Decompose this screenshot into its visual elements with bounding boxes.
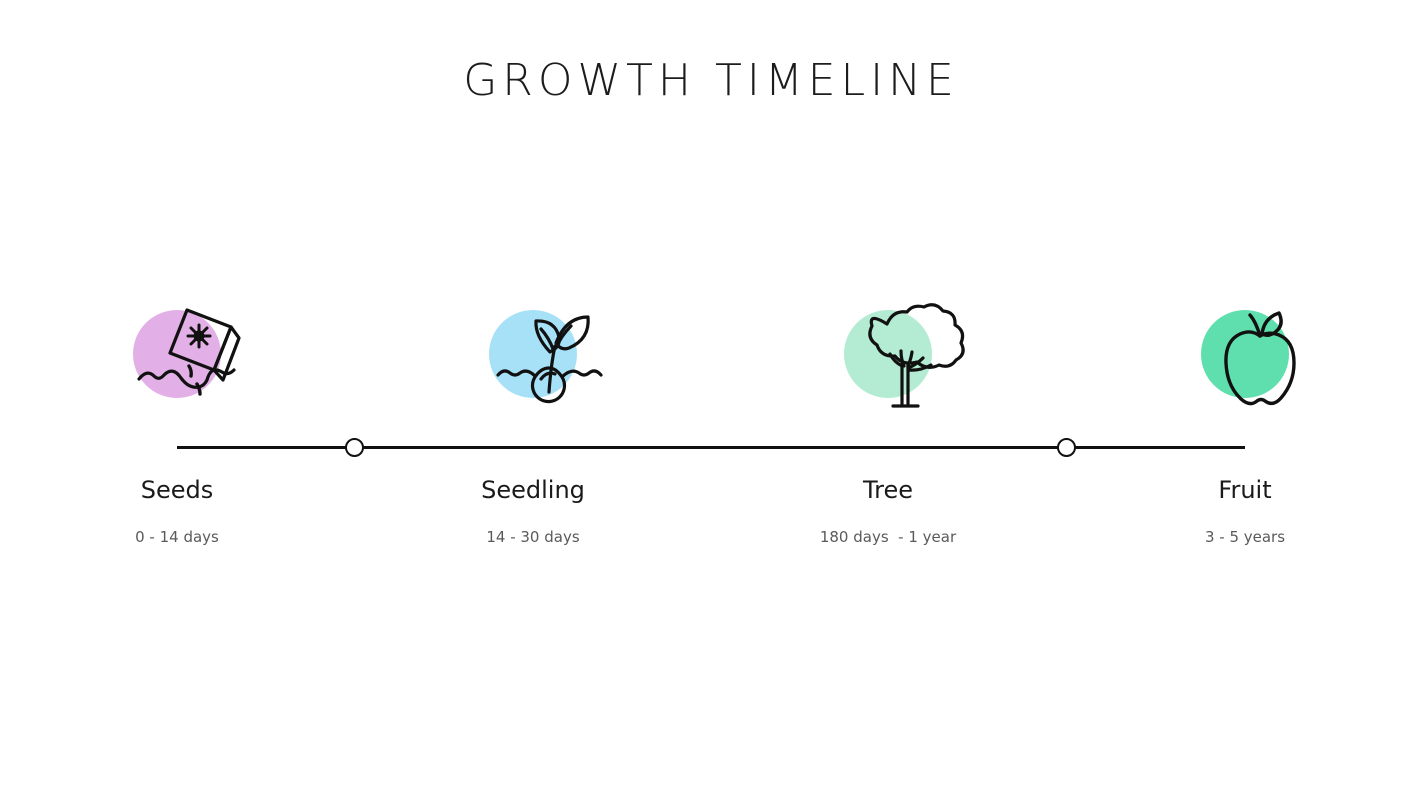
timeline-marker-seedling[interactable] <box>1057 438 1076 457</box>
stage-duration-seeds: 0 - 14 days <box>17 528 337 546</box>
stage-label-seedling: Seedling <box>373 476 693 504</box>
slide-canvas: GROWTH TIMELINE Seeds 0 - 14 da <box>0 0 1422 800</box>
stage-duration-fruit: 3 - 5 years <box>1085 528 1405 546</box>
timeline-axis <box>177 446 1245 449</box>
stage-label-seeds: Seeds <box>17 476 337 504</box>
page-title: GROWTH TIMELINE <box>0 55 1422 106</box>
stage-blob-fruit <box>1201 310 1289 398</box>
stage-blob-tree <box>844 310 932 398</box>
stage-label-fruit: Fruit <box>1085 476 1405 504</box>
stage-label-tree: Tree <box>728 476 1048 504</box>
stage-blob-seedling <box>489 310 577 398</box>
stage-blob-seeds <box>133 310 221 398</box>
timeline-marker-seeds[interactable] <box>345 438 364 457</box>
stage-duration-seedling: 14 - 30 days <box>373 528 693 546</box>
stage-duration-tree: 180 days - 1 year <box>728 528 1048 546</box>
